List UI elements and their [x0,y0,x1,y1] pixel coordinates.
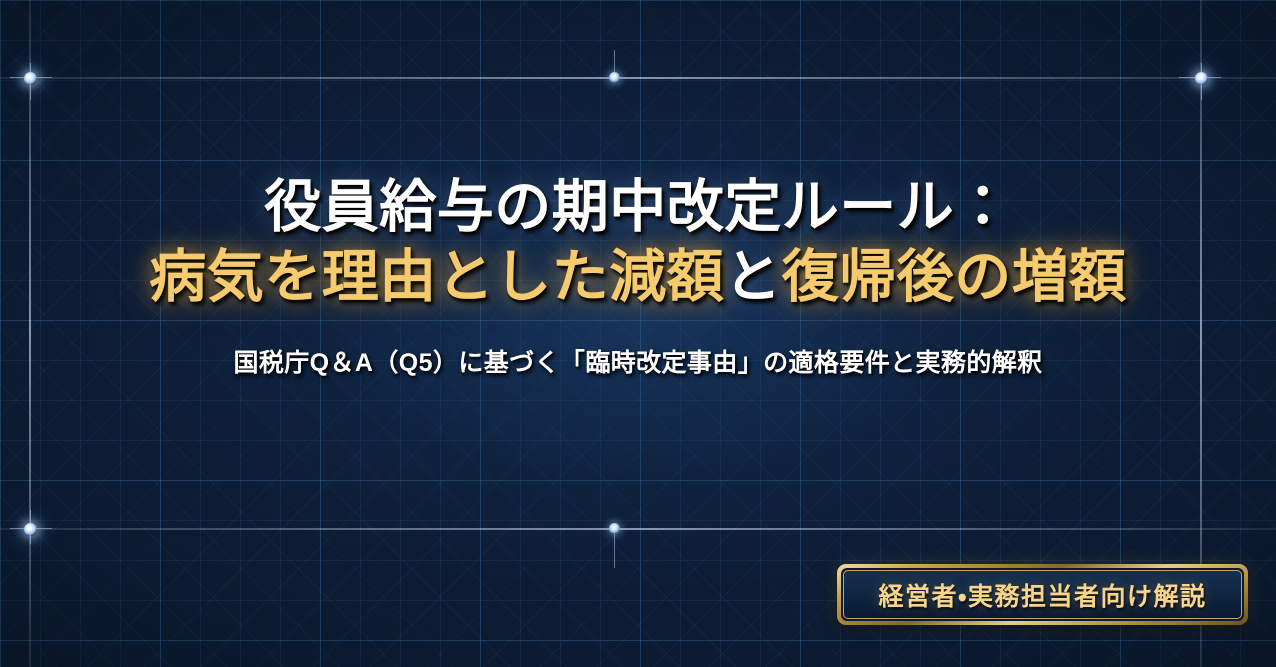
node-top-right [1195,72,1208,85]
page-title-highlight-increase: 復帰後の増額 [782,245,1127,309]
frame-line-top [0,77,1276,79]
page-title-conjunction: と [724,245,782,309]
slide-canvas: 役員給与の期中改定ルール： 病気を理由とした減額と復帰後の増額 国税庁Q＆A（Q… [0,0,1276,667]
audience-badge: 経営者・実務担当者向け解説 [837,564,1248,625]
audience-badge-inner: 経営者・実務担当者向け解説 [843,570,1242,619]
frame-line-bottom [0,528,1276,530]
page-title-line-2: 病気を理由とした減額と復帰後の増額 [0,246,1276,310]
page-title-line-1: 役員給与の期中改定ルール： [0,176,1276,240]
node-bottom-left [24,523,37,536]
audience-badge-label: 経営者・実務担当者向け解説 [878,577,1206,613]
audience-badge-gap: 経営者・実務担当者向け解説 [841,568,1244,621]
tick-bottom-center-down [614,528,615,568]
headline-block: 役員給与の期中改定ルール： 病気を理由とした減額と復帰後の増額 国税庁Q＆A（Q… [0,176,1276,379]
node-bottom-center [609,523,620,534]
page-title-highlight-reduction: 病気を理由とした減額 [149,245,724,309]
node-top-center [609,72,620,83]
node-top-left [24,72,37,85]
page-subtitle: 国税庁Q＆A（Q5）に基づく「臨時改定事由」の適格要件と実務的解釈 [0,343,1276,379]
